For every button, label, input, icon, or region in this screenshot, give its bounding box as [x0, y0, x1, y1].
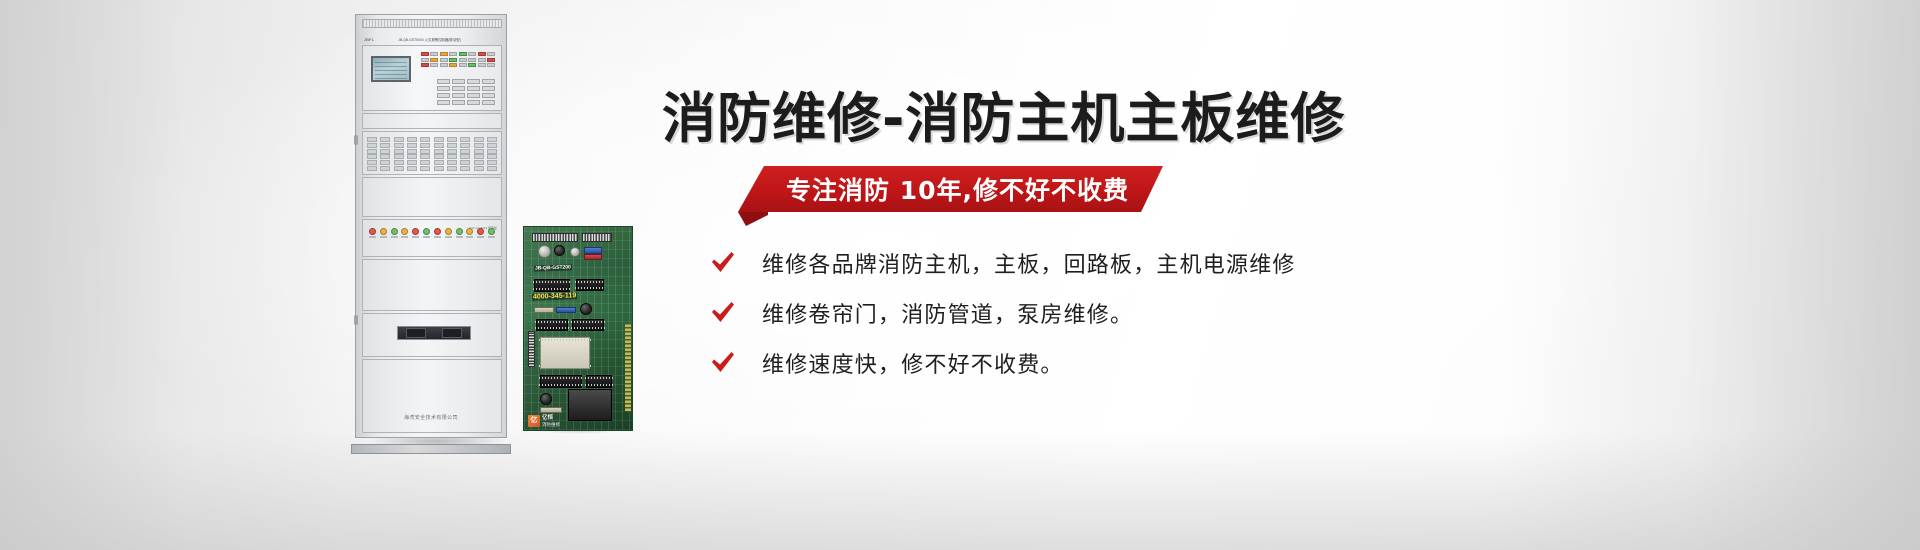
watermark-line-2: 消防维修: [542, 422, 560, 427]
cabinet-base-plinth: [351, 444, 511, 454]
pcb-capacitor: [538, 245, 551, 258]
pcb-mcu-socket: [568, 389, 612, 421]
cabinet-lcd-text-lines: [375, 61, 407, 79]
cabinet-digital-meter: [397, 326, 471, 340]
cabinet-indicator-lamps: [421, 52, 495, 74]
pcb-capacitor: [580, 303, 592, 315]
cabinet-hinge: [354, 315, 358, 325]
pcb-ic-chip: [576, 279, 604, 291]
cabinet-hinge: [354, 135, 358, 145]
cabinet-top-vent: [362, 19, 502, 28]
pcb-gold-edge-connector: [625, 323, 631, 411]
list-item-label: 维修各品牌消防主机，主板，回路板，主机电源维修: [762, 247, 1296, 279]
list-item: 维修速度快，修不好不收费。: [710, 338, 1710, 388]
pcb-ic-chip: [540, 375, 582, 388]
cabinet-meter-panel: [362, 313, 502, 357]
watermark-text: 亿恒 消防维修: [542, 415, 560, 426]
pcb-resistor: [534, 307, 554, 313]
pcb-ic-chip: [586, 375, 612, 388]
fire-alarm-cabinet-image: JBFL JB-QB-GST5000 火灾报警控制器(联动型): [355, 14, 515, 446]
cabinet-keypad: [437, 79, 495, 105]
pcb-capacitor: [540, 393, 552, 405]
check-icon: [710, 300, 736, 326]
cabinet-module-slot: [362, 113, 502, 129]
page-title: 消防维修-消防主机主板维修: [662, 92, 1345, 146]
watermark-logo-icon: 亿: [528, 415, 540, 427]
pcb-resistor: [556, 307, 576, 313]
cabinet-module-slot: [362, 131, 502, 175]
ribbon-fold-tail: [738, 212, 768, 226]
check-icon: [710, 350, 736, 376]
pcb-ic-chip: [572, 319, 604, 331]
cabinet-lower-door: [362, 359, 502, 433]
list-item: 维修各品牌消防主机，主板，回路板，主机电源维修: [710, 238, 1710, 288]
pcb-resistor: [584, 254, 602, 260]
cabinet-control-panel: [362, 45, 502, 111]
pcb-eprom-chip: [540, 337, 590, 369]
circuit-board-image: JB-QB-GST200 4000-345-119 亿 亿恒 消防维修: [523, 226, 633, 431]
feature-list: 维修各品牌消防主机，主板，回路板，主机电源维修 维修卷帘门，消防管道，泵房维修。…: [710, 238, 1710, 388]
pcb-capacitor: [554, 245, 565, 256]
backdrop-shade-left: [0, 0, 340, 550]
cabinet-brand-label: JBFL: [364, 37, 374, 42]
pcb-resistor: [540, 407, 562, 413]
cabinet-module-slot: [362, 259, 502, 311]
list-item-label: 维修卷帘门，消防管道，泵房维修。: [762, 297, 1133, 329]
pcb-resistor: [584, 247, 602, 254]
cabinet-lamp-strip: [369, 228, 495, 235]
cabinet-footer-label: 海湾安全技术有限公司: [356, 414, 506, 421]
banner-content: 消防维修-消防主机主板维修 专注消防 10年,修不好不收费 维修各品牌消防主机，…: [660, 0, 1840, 550]
slogan-ribbon: 专注消防 10年,修不好不收费: [738, 166, 1163, 212]
pcb-body: JB-QB-GST200 4000-345-119 亿 亿恒 消防维修: [523, 226, 633, 431]
pcb-header-connector: [582, 233, 612, 242]
pcb-pin-header: [528, 331, 535, 367]
list-item-label: 维修速度快，修不好不收费。: [762, 347, 1064, 379]
pcb-ic-chip: [534, 279, 570, 292]
cabinet-lamp-panel: GST-LD-8319 回路板: [362, 219, 502, 257]
cabinet-model-label: JB-QB-GST5000 火灾报警控制器(联动型): [398, 37, 461, 42]
cabinet-body: JBFL JB-QB-GST5000 火灾报警控制器(联动型): [355, 14, 507, 438]
pcb-header-connector: [532, 233, 578, 242]
pcb-watermark: 亿 亿恒 消防维修: [528, 415, 560, 427]
cabinet-lcd-screen: [371, 56, 411, 82]
list-item: 维修卷帘门，消防管道，泵房维修。: [710, 288, 1710, 338]
promo-banner: JBFL JB-QB-GST5000 火灾报警控制器(联动型): [0, 0, 1920, 550]
cabinet-lamp-labels: [369, 236, 495, 238]
cabinet-module-slot: [362, 177, 502, 217]
cabinet-terminal-rows: [367, 136, 497, 170]
pcb-ic-chip: [536, 319, 568, 331]
check-icon: [710, 250, 736, 276]
pcb-capacitor: [570, 247, 580, 257]
